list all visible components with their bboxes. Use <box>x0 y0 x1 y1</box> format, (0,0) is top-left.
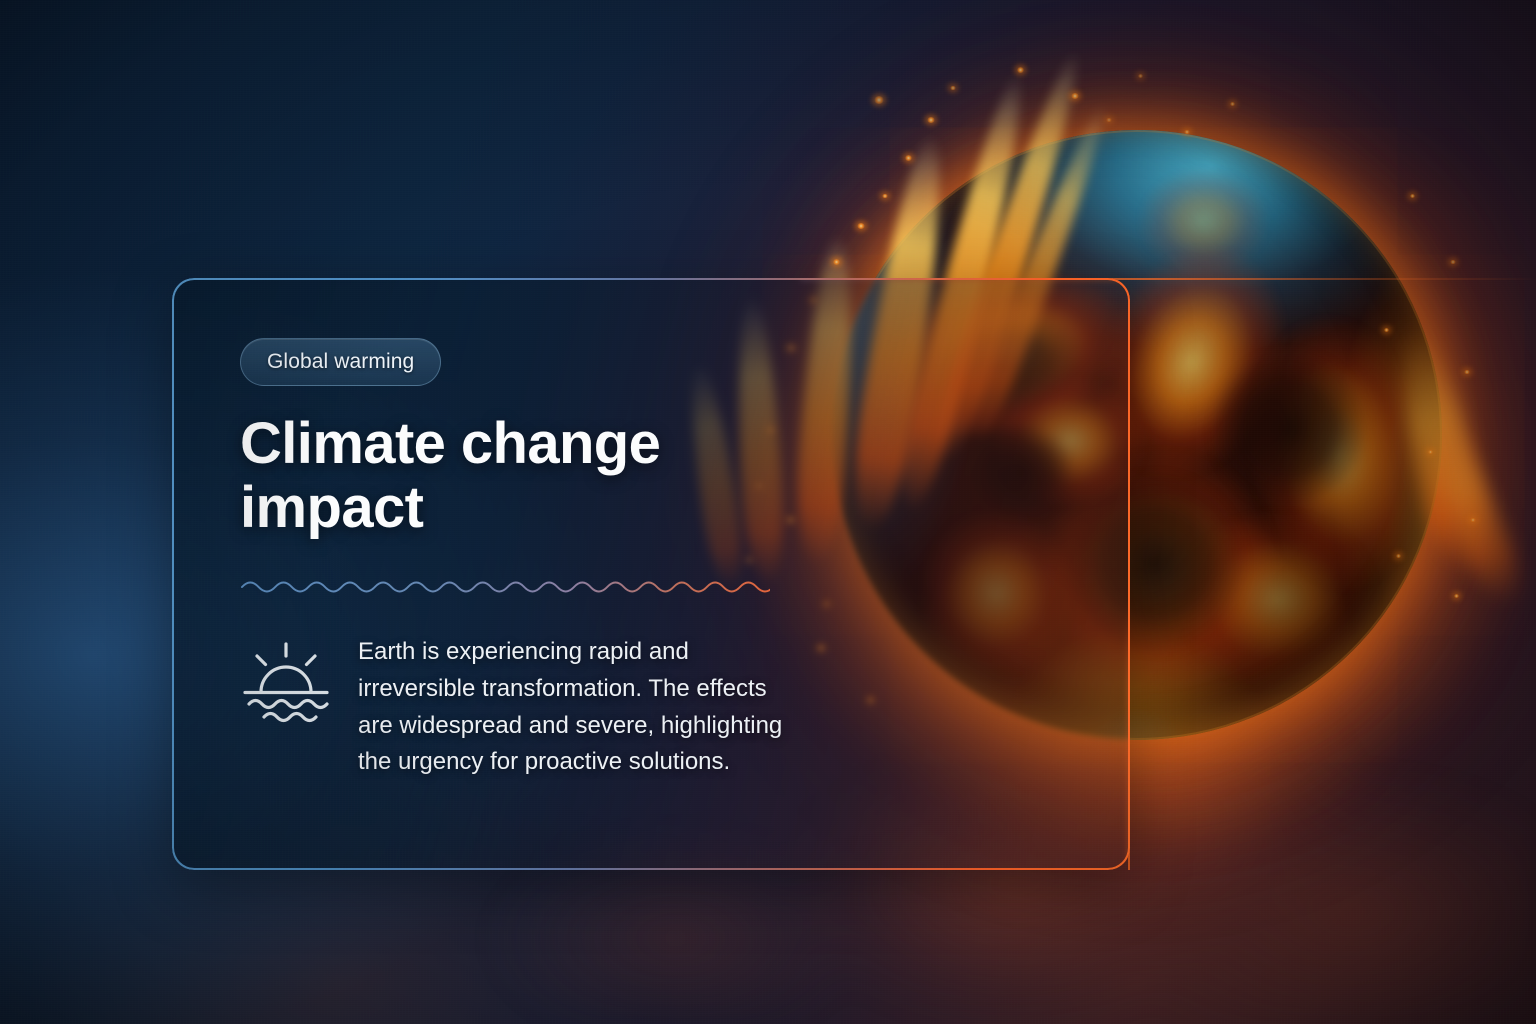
page-title-line-2: impact <box>240 475 423 540</box>
body-text: Earth is experiencing rapid and irrevers… <box>358 634 788 782</box>
category-badge[interactable]: Global warming <box>240 338 441 386</box>
poster-canvas: Global warming Climate change impact <box>0 0 1536 1024</box>
wavy-divider <box>240 574 770 600</box>
sunrise-over-water-icon <box>240 640 332 726</box>
info-card: Global warming Climate change impact <box>172 278 1130 870</box>
body-row: Earth is experiencing rapid and irrevers… <box>240 634 1130 782</box>
category-badge-label: Global warming <box>267 350 414 374</box>
page-title-line-1: Climate change <box>240 411 660 476</box>
right-flames <box>1322 290 1536 710</box>
card-content: Global warming Climate change impact <box>172 278 1130 870</box>
page-title: Climate change impact <box>240 412 800 540</box>
